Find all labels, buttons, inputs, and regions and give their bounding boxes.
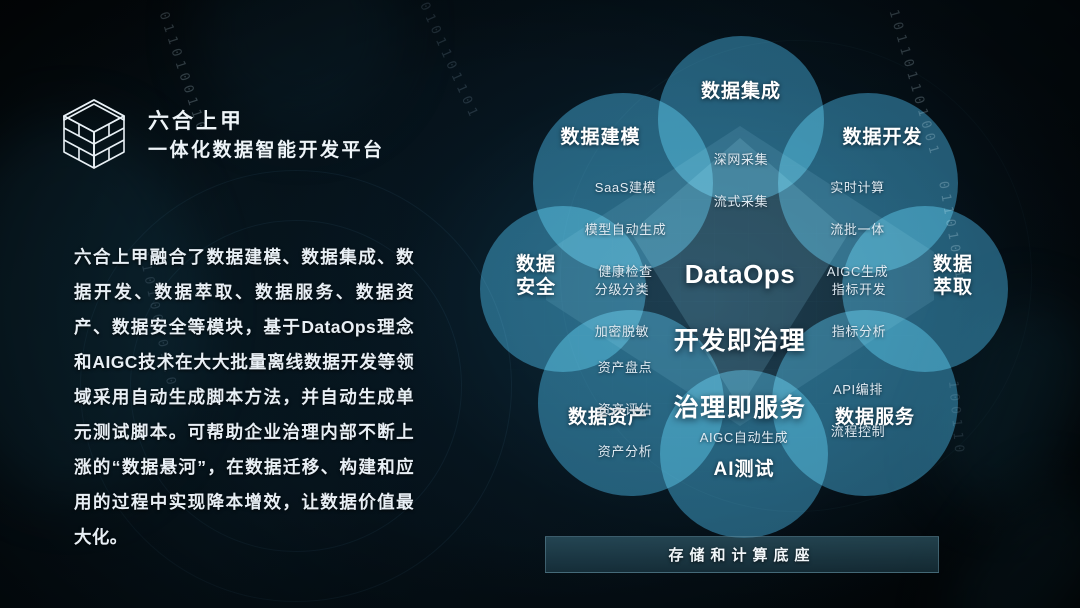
module-label-data-integration[interactable]: 数据集成 (681, 80, 801, 103)
foundation-label: 存储和计算底座 (668, 544, 815, 565)
description-paragraph: 六合上甲融合了数据建模、数据集成、数据开发、数据萃取、数据服务、数据资产、数据安… (74, 240, 414, 555)
foundation-bar[interactable]: 存储和计算底座 (545, 536, 939, 573)
diagram-center-text: DataOps 开发即治理 治理即服务 (640, 223, 840, 459)
sub-item: 实时计算 (790, 177, 925, 198)
brand-block: 六合上甲 一体化数据智能开发平台 (58, 96, 385, 174)
brick-cube-logo-icon (58, 96, 130, 174)
sub-item: 深网采集 (681, 149, 801, 170)
brand-tagline: 一体化数据智能开发平台 (148, 141, 385, 160)
center-title-en: DataOps (640, 257, 840, 292)
module-label-data-extraction[interactable]: 数据 萃取 (910, 253, 996, 299)
center-line-2: 治理即服务 (640, 392, 840, 426)
brand-name: 六合上甲 (148, 111, 385, 132)
module-subs-data-integration: 深网采集 流式采集 (681, 128, 801, 233)
module-label-data-security[interactable]: 数据 安全 (493, 253, 579, 299)
venn-diagram: 数据集成 深网采集 流式采集 数据建模 SaaS建模 模型自动生成 健康检查 数… (460, 18, 1020, 538)
module-label-data-modeling[interactable]: 数据建模 (533, 126, 668, 149)
center-line-1: 开发即治理 (640, 325, 840, 359)
slide-canvas: 0110100110 110100101101 101101101001 011… (0, 0, 1080, 608)
sub-item: 流式采集 (681, 191, 801, 212)
module-label-data-development[interactable]: 数据开发 (815, 126, 950, 149)
sub-item: SaaS建模 (558, 177, 693, 198)
